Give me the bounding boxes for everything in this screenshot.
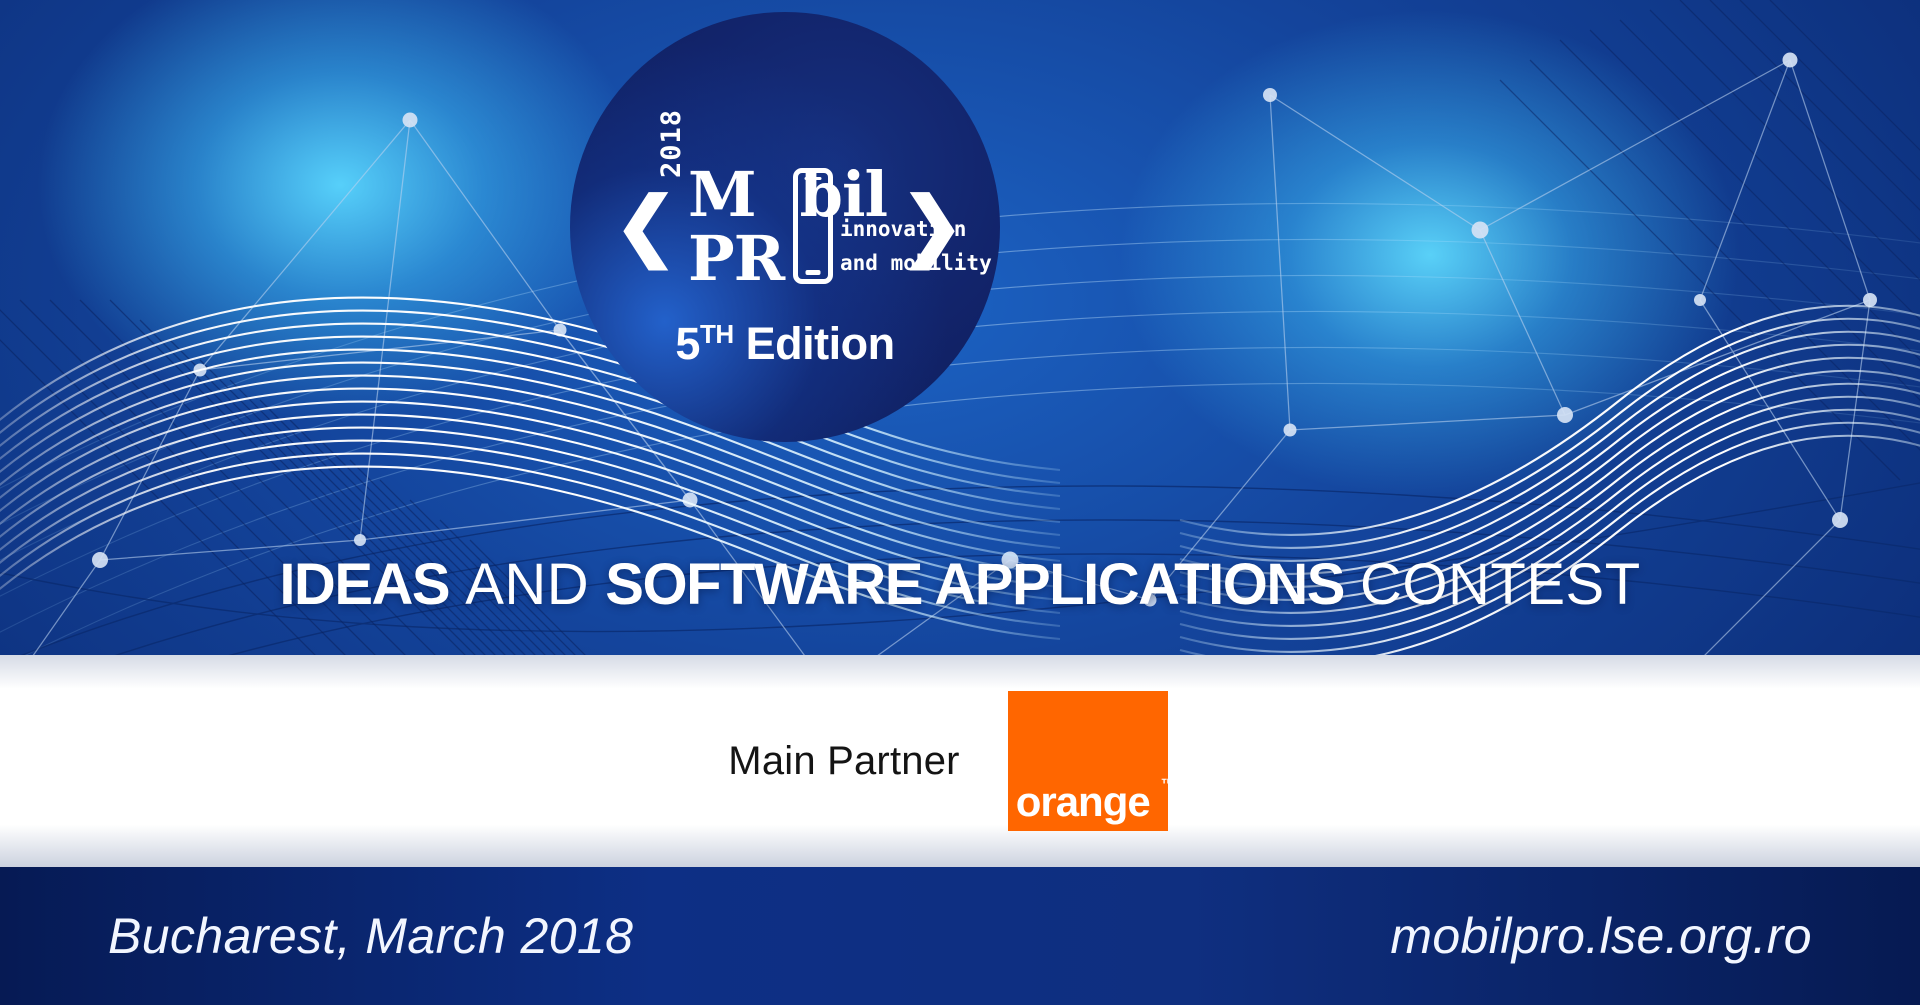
main-partner-band: Main Partner orange™ — [0, 655, 1920, 867]
edition-ordinal: TH — [700, 319, 734, 349]
event-promo-banner: ❮ 2018 Mbil PR innovation and mobility ❯… — [0, 0, 1920, 1005]
edition-word: Edition — [746, 318, 895, 369]
partner-inner: Main Partner orange™ — [728, 691, 1167, 831]
logo-word-m: M — [688, 158, 756, 231]
headline-software-applications: SOFTWARE APPLICATIONS — [605, 552, 1344, 617]
mobilpro-logo-lockup: ❮ 2018 Mbil PR innovation and mobility ❯ — [612, 160, 962, 300]
page-title: IDEAS AND SOFTWARE APPLICATIONS CONTEST — [0, 556, 1920, 614]
logo-word-pr: PR — [688, 222, 784, 295]
smartphone-icon — [793, 168, 833, 284]
footer-bar: Bucharest, March 2018 mobilpro.lse.org.r… — [0, 867, 1920, 1005]
bracket-left-icon: ❮ — [614, 188, 678, 264]
event-location-date: Bucharest, March 2018 — [108, 907, 633, 965]
headline-and: AND — [465, 552, 589, 617]
event-website-url[interactable]: mobilpro.lse.org.ro — [1390, 907, 1812, 965]
headline-contest: CONTEST — [1360, 552, 1641, 617]
headline-ideas: IDEAS — [279, 552, 449, 617]
logo-year-label: 2018 — [656, 109, 687, 178]
orange-word-text: orange — [1016, 778, 1150, 825]
trademark-icon: ™ — [1161, 777, 1176, 792]
bracket-right-icon: ❯ — [900, 188, 964, 264]
orange-wordmark: orange™ — [1016, 781, 1150, 823]
orange-logo: orange™ — [1008, 691, 1168, 831]
main-partner-label: Main Partner — [728, 739, 959, 784]
edition-number: 5 — [675, 318, 700, 369]
edition-label: 5TH Edition — [570, 318, 1000, 370]
